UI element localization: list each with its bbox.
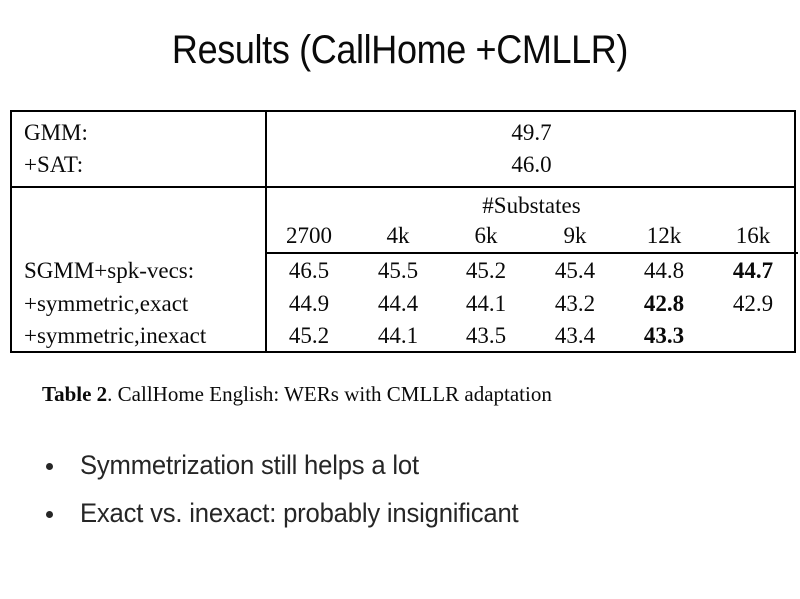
table-cell: 45.4 bbox=[531, 259, 619, 282]
column-header-4k: 4k bbox=[354, 224, 442, 247]
bullet-dot-icon bbox=[46, 511, 53, 518]
page-title: Results (CallHome +CMLLR) bbox=[40, 26, 760, 74]
column-header-9k: 9k bbox=[531, 224, 619, 247]
table-horizontal-divider bbox=[12, 186, 794, 188]
bullet-dot-icon bbox=[46, 463, 53, 470]
column-header-6k: 6k bbox=[442, 224, 530, 247]
list-item: Symmetrization still helps a lot bbox=[40, 444, 760, 492]
column-header-rule bbox=[265, 252, 798, 254]
table-cell: 45.5 bbox=[354, 259, 442, 282]
table-cell: 43.5 bbox=[442, 324, 530, 347]
column-header-12k: 12k bbox=[620, 224, 708, 247]
group-header-substates: #Substates bbox=[265, 194, 798, 217]
table-cell: 45.2 bbox=[265, 324, 353, 347]
table-cell: 44.1 bbox=[354, 324, 442, 347]
table-cell: 44.1 bbox=[442, 292, 530, 315]
table-cell: 42.9 bbox=[709, 292, 797, 315]
column-header-16k: 16k bbox=[709, 224, 797, 247]
table-caption-label: Table 2 bbox=[42, 382, 107, 406]
row-label-symmetric-exact: +symmetric,exact bbox=[24, 292, 188, 315]
table-cell: 43.4 bbox=[531, 324, 619, 347]
results-table: GMM: 49.7 +SAT: 46.0 #Substates 2700 4k … bbox=[10, 110, 796, 353]
table-cell: 42.8 bbox=[620, 292, 708, 315]
table-cell: 43.2 bbox=[531, 292, 619, 315]
table-cell: 44.4 bbox=[354, 292, 442, 315]
column-header-2700: 2700 bbox=[265, 224, 353, 247]
table-cell: 44.7 bbox=[709, 259, 797, 282]
row-label-sgmm-spk-vecs: SGMM+spk-vecs: bbox=[24, 259, 194, 282]
table-caption-text: . CallHome English: WERs with CMLLR adap… bbox=[107, 382, 552, 406]
row-label-sat: +SAT: bbox=[24, 153, 83, 176]
table-cell: 46.5 bbox=[265, 259, 353, 282]
table-cell: 45.2 bbox=[442, 259, 530, 282]
baseline-rows: GMM: 49.7 +SAT: 46.0 bbox=[12, 112, 794, 186]
row-label-symmetric-inexact: +symmetric,inexact bbox=[24, 324, 206, 347]
table-caption: Table 2. CallHome English: WERs with CML… bbox=[42, 381, 552, 407]
table-cell: 44.9 bbox=[265, 292, 353, 315]
table-cell: 44.8 bbox=[620, 259, 708, 282]
bullet-list: Symmetrization still helps a lot Exact v… bbox=[40, 444, 760, 540]
table-cell: 43.3 bbox=[620, 324, 708, 347]
row-value-sat: 46.0 bbox=[265, 153, 798, 176]
list-item: Exact vs. inexact: probably insignifican… bbox=[40, 492, 760, 540]
row-value-gmm: 49.7 bbox=[265, 121, 798, 144]
list-item-label: Exact vs. inexact: probably insignifican… bbox=[80, 496, 518, 530]
list-item-label: Symmetrization still helps a lot bbox=[80, 448, 419, 482]
row-label-gmm: GMM: bbox=[24, 121, 88, 144]
